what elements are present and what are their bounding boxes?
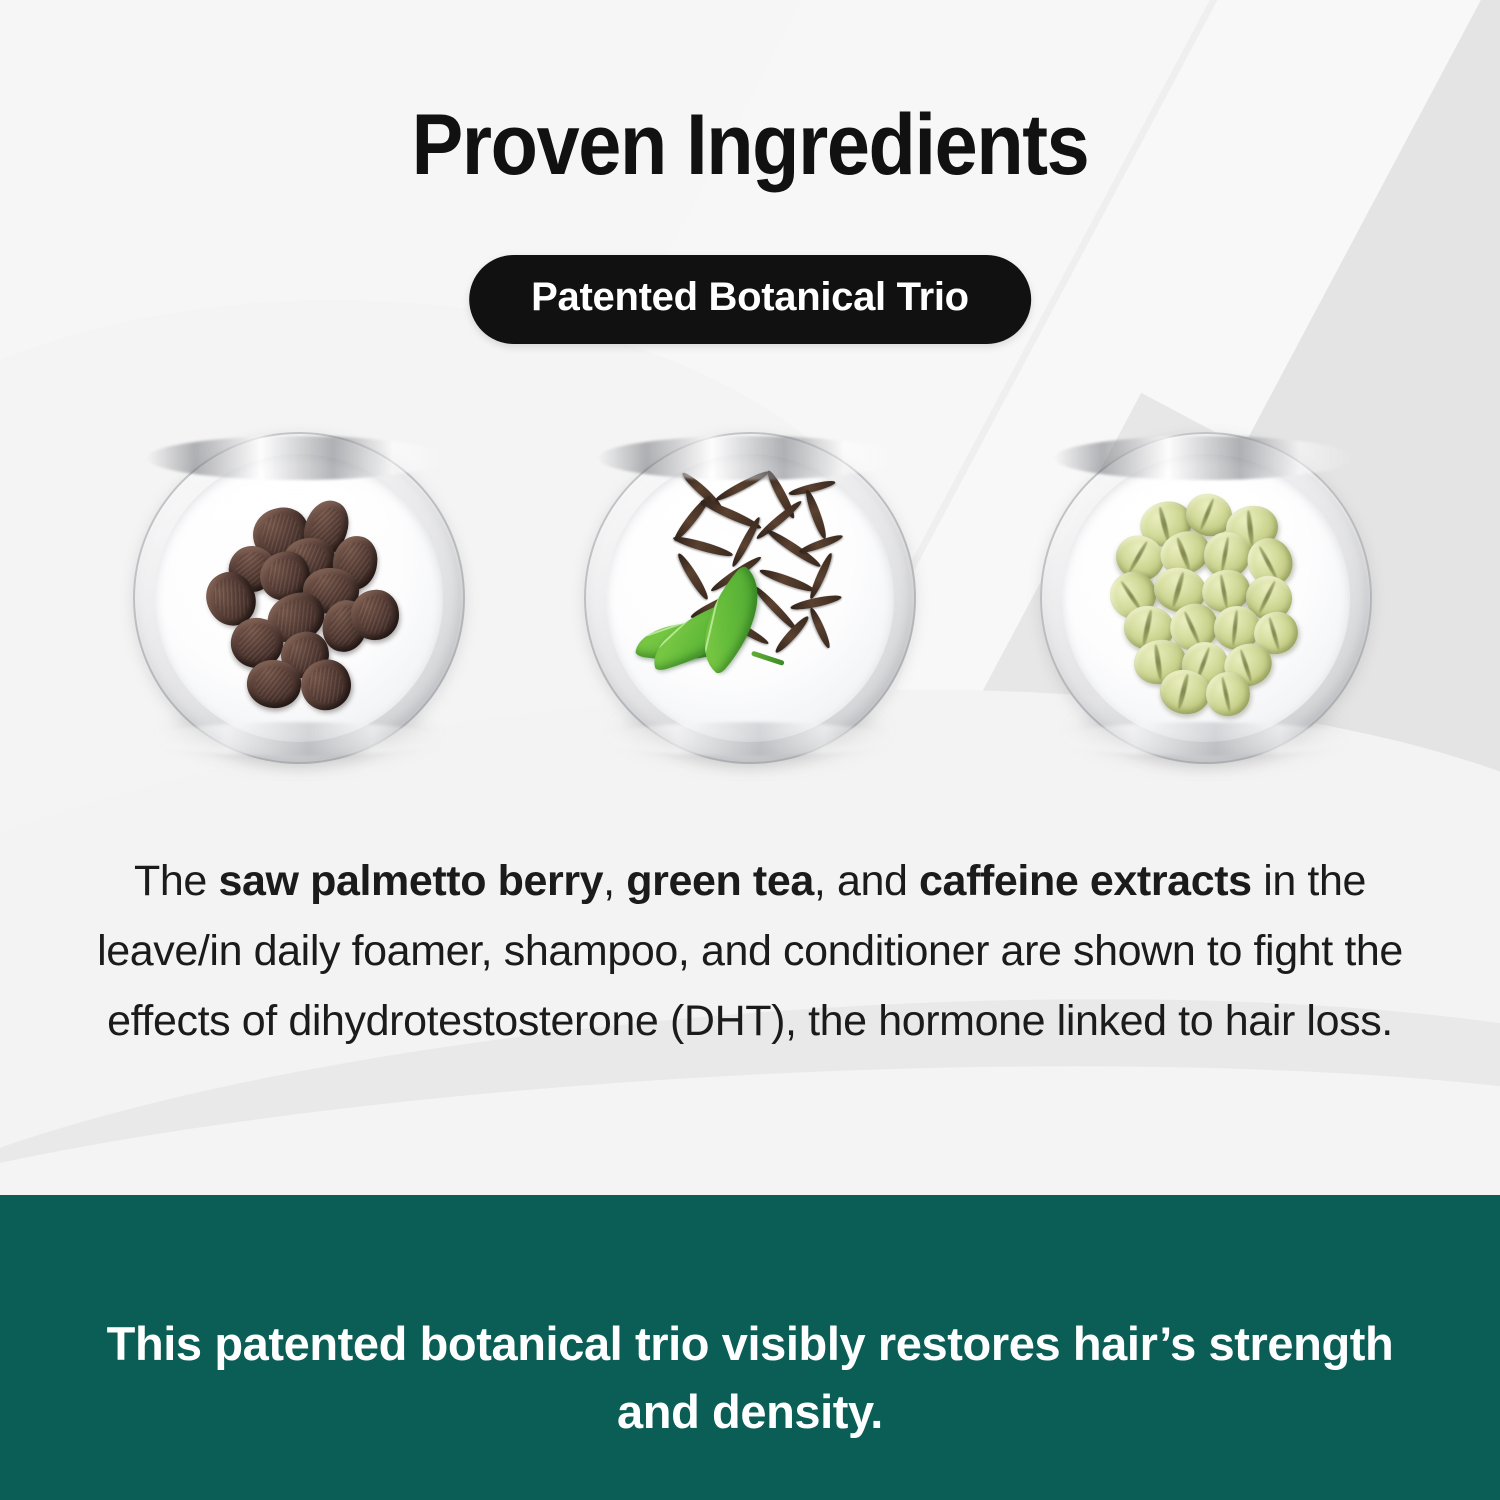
paragraph-rich-text: The saw palmetto berry, green tea, and c…	[97, 857, 1403, 1045]
tea-leaf-stem	[751, 651, 785, 666]
page-title: Proven Ingredients	[75, 96, 1425, 195]
ingredient-emphasis: green tea	[626, 857, 814, 905]
ingredient-emphasis: caffeine extracts	[919, 857, 1252, 905]
dish-interior	[606, 454, 894, 742]
dish-rim-lower-highlight	[602, 722, 894, 756]
dish-rim-highlight	[1054, 436, 1354, 480]
body-paragraph: The saw palmetto berry, green tea, and c…	[92, 846, 1408, 1056]
patented-badge: Patented Botanical Trio	[469, 255, 1031, 344]
dish-interior	[1062, 454, 1350, 742]
ingredient-dish-green-tea	[584, 432, 916, 764]
paragraph-text: The	[134, 857, 218, 905]
ingredient-dish-green-coffee-bean	[1040, 432, 1372, 764]
background-swoosh-top-left	[0, 0, 820, 460]
paragraph-text: ,	[603, 857, 626, 905]
dish-rim-highlight	[147, 436, 447, 480]
footer-headline: This patented botanical trio visibly res…	[70, 1310, 1430, 1446]
dish-interior	[155, 454, 443, 742]
dish-rim-lower-highlight	[151, 722, 443, 756]
tea-twist	[807, 606, 832, 649]
ingredient-dish-row	[0, 432, 1500, 772]
dish-rim-highlight	[598, 436, 898, 480]
dish-rim-lower-highlight	[1058, 722, 1350, 756]
paragraph-text: , and	[814, 857, 919, 905]
footer-banner: This patented botanical trio visibly res…	[0, 1195, 1500, 1500]
fresh-tea-leaves	[632, 563, 807, 708]
tea-twist	[803, 489, 829, 541]
ingredient-dish-saw-palmetto-berry	[133, 432, 465, 764]
infographic-page: Proven Ingredients Patented Botanical Tr…	[0, 0, 1500, 1500]
ingredient-emphasis: saw palmetto berry	[218, 857, 603, 905]
